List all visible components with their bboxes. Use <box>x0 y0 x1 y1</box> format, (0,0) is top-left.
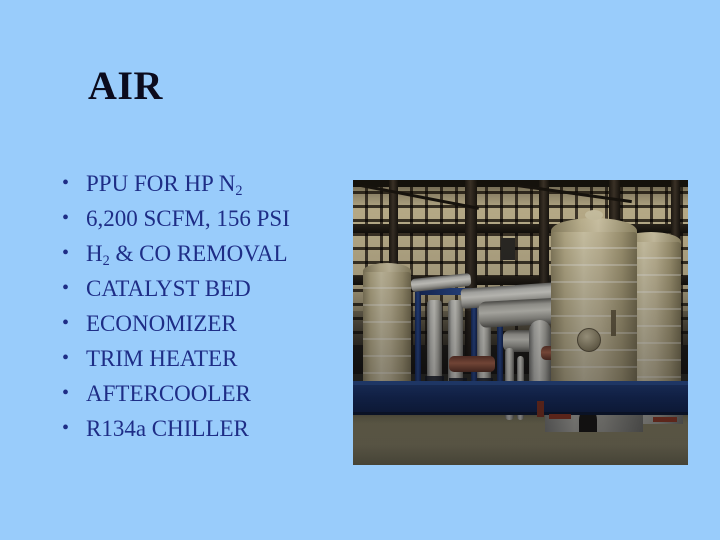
list-item-r134a-chiller: • R134a CHILLER <box>58 411 348 446</box>
bullet-icon: • <box>62 306 69 341</box>
list-item-h2-co-removal: • H2 & CO REMOVAL <box>58 236 348 271</box>
list-item-trim-heater: • TRIM HEATER <box>58 341 348 376</box>
bullet-icon: • <box>62 166 69 201</box>
bullet-icon: • <box>62 271 69 306</box>
list-item-ppu-for-hp-n2: • PPU FOR HP N2 <box>58 166 348 201</box>
slide-canvas: AIR • PPU FOR HP N2 • 6,200 SCFM, 156 PS… <box>0 0 720 540</box>
list-item-label: PPU FOR HP N2 <box>86 171 242 196</box>
industrial-gas-purification-skid-photo <box>353 180 688 465</box>
bullet-icon: • <box>62 201 69 236</box>
list-item-label: H2 & CO REMOVAL <box>86 241 288 266</box>
bullet-icon: • <box>62 411 69 446</box>
list-item-label: CATALYST BED <box>86 276 251 301</box>
list-item-aftercooler: • AFTERCOOLER <box>58 376 348 411</box>
list-item-label: 6,200 SCFM, 156 PSI <box>86 206 290 231</box>
list-item-label: TRIM HEATER <box>86 346 237 371</box>
list-item-economizer: • ECONOMIZER <box>58 306 348 341</box>
photo-vignette <box>353 180 688 465</box>
list-item-flow-and-pressure: • 6,200 SCFM, 156 PSI <box>58 201 348 236</box>
page-title: AIR <box>88 66 163 106</box>
bullet-icon: • <box>62 341 69 376</box>
list-item-catalyst-bed: • CATALYST BED <box>58 271 348 306</box>
list-item-label: ECONOMIZER <box>86 311 237 336</box>
bullet-icon: • <box>62 376 69 411</box>
bullet-list: • PPU FOR HP N2 • 6,200 SCFM, 156 PSI • … <box>58 166 348 446</box>
bullet-icon: • <box>62 236 69 271</box>
list-item-label: AFTERCOOLER <box>86 381 251 406</box>
list-item-label: R134a CHILLER <box>86 416 249 441</box>
